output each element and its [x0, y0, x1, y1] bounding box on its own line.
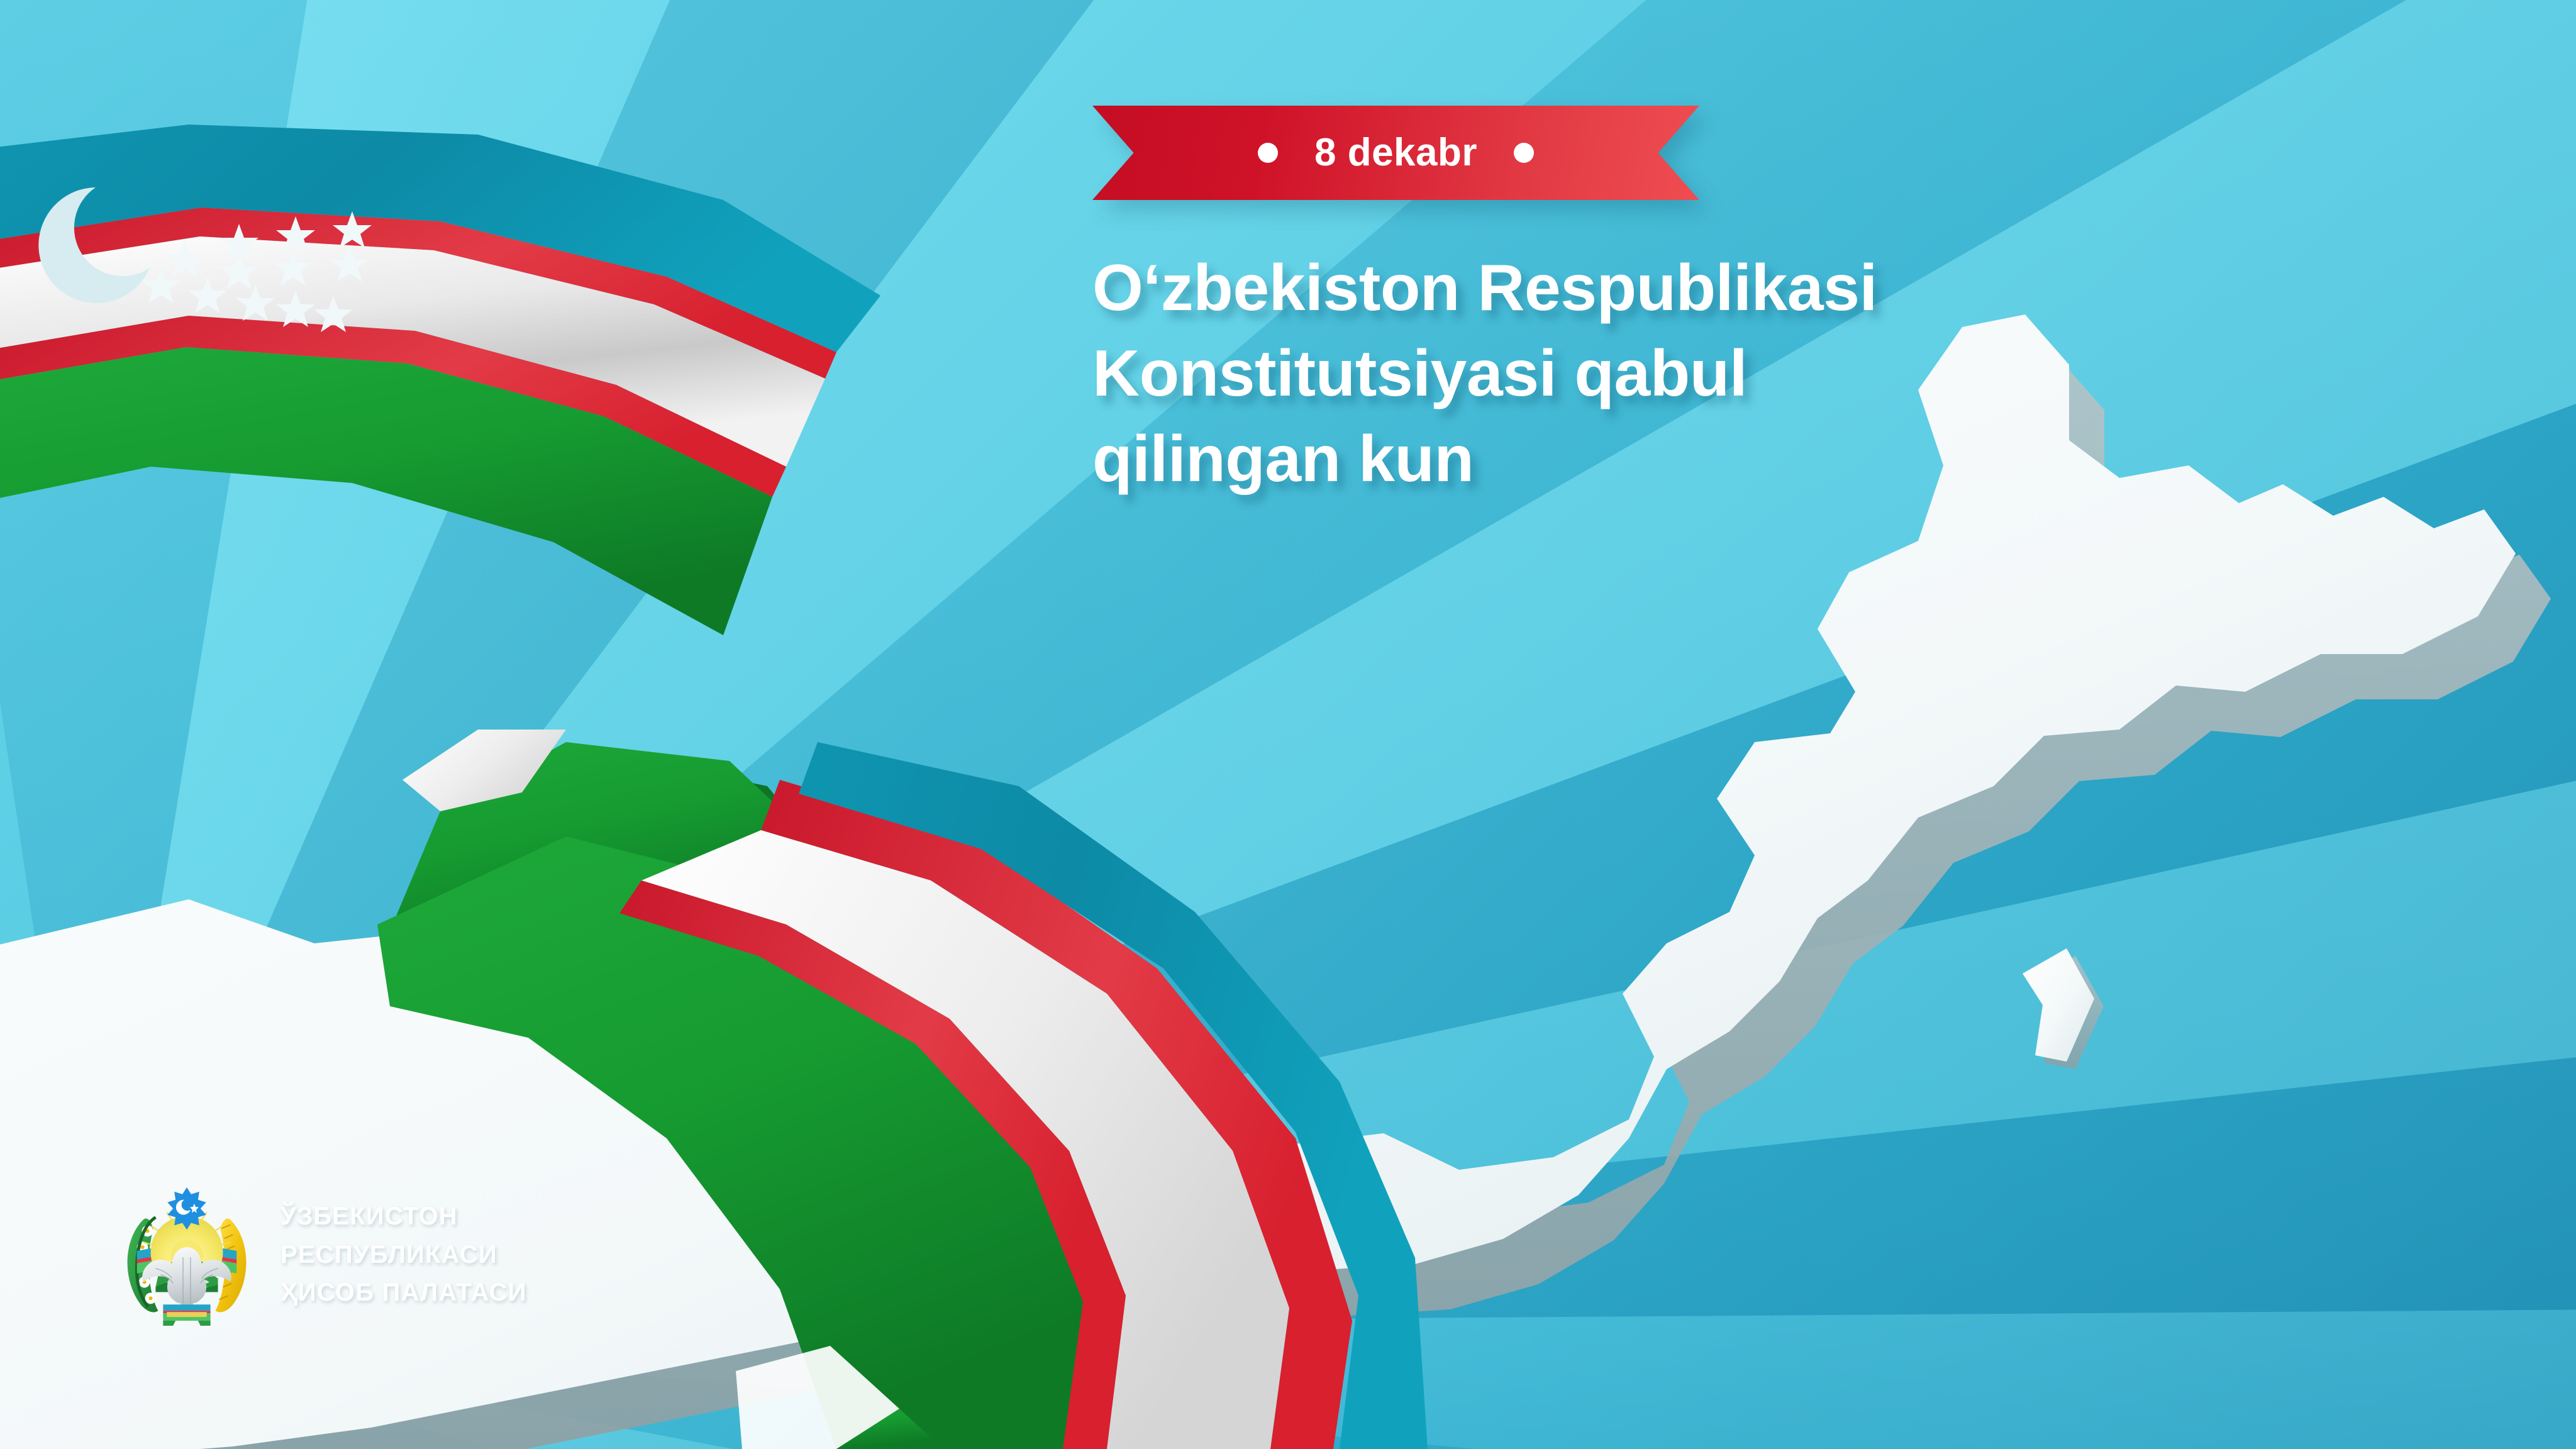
- title-line-3: qilingan kun: [1092, 416, 2331, 502]
- emblem-bottom-ribbon: [163, 1304, 210, 1326]
- dot-right-icon: [1514, 143, 1534, 163]
- org-line-2: РЕСПУБЛИКАСИ: [280, 1236, 527, 1274]
- ribbon-date-label: 8 dekabr: [1314, 133, 1477, 172]
- dot-left-icon: [1258, 143, 1278, 163]
- title-line-2: Konstitutsiyasi qabul: [1092, 331, 2331, 416]
- date-ribbon-banner: 8 dekabr: [1092, 106, 1699, 200]
- title-line-1: O‘zbekiston Respublikasi: [1092, 245, 2331, 331]
- poster-canvas: 8 dekabr O‘zbekiston Respublikasi Konsti…: [0, 0, 2576, 1449]
- page-title: O‘zbekiston Respublikasi Konstitutsiyasi…: [1092, 245, 2331, 502]
- organization-logo: ЎЗБЕКИСТОН РЕСПУБЛИКАСИ ҲИСОБ ПАЛАТАСИ: [118, 1182, 527, 1327]
- org-line-3: ҲИСОБ ПАЛАТАСИ: [280, 1274, 527, 1312]
- uzbekistan-state-emblem-icon: [118, 1182, 255, 1327]
- org-line-1: ЎЗБЕКИСТОН: [280, 1197, 527, 1236]
- organization-name: ЎЗБЕКИСТОН РЕСПУБЛИКАСИ ҲИСОБ ПАЛАТАСИ: [280, 1197, 527, 1312]
